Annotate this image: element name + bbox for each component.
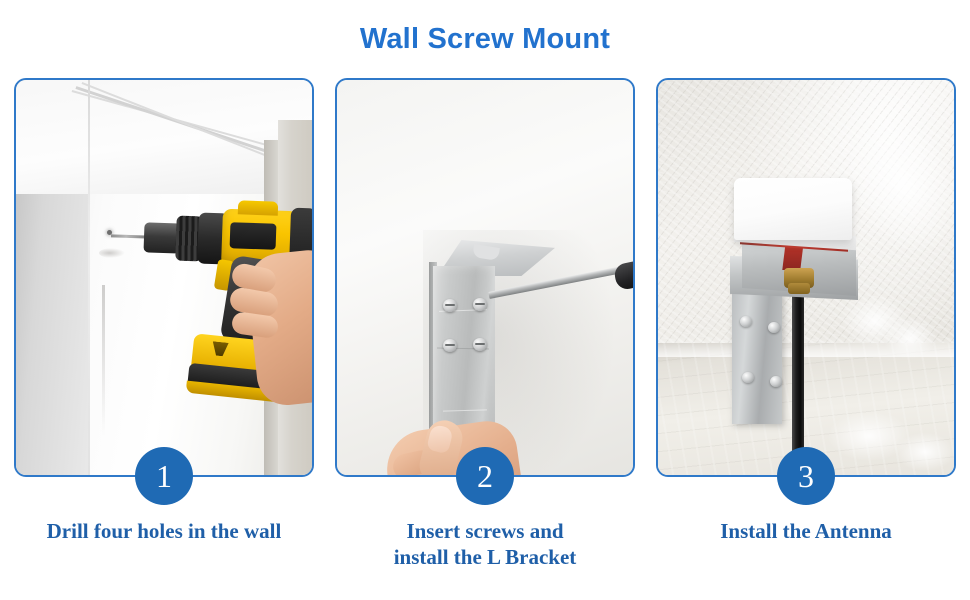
- sunlight-highlight: [882, 316, 938, 360]
- sunlight-highlight: [894, 432, 954, 472]
- installed-antenna-photo: [658, 80, 954, 475]
- l-bracket-vertical-plate: [732, 276, 782, 424]
- step-card-1: 1 Drill four holes in the wall: [14, 78, 314, 578]
- install-l-bracket-photo: [337, 80, 633, 475]
- step-card-3: 3 Install the Antenna: [656, 78, 956, 578]
- step-2-photo-frame: [335, 78, 635, 477]
- bracket-screw: [473, 338, 487, 351]
- caption-line: Drill four holes in the wall: [0, 518, 332, 544]
- drill-dust-smudge: [99, 248, 125, 258]
- drill-top-housing: [238, 200, 278, 215]
- step-number-badge-1: 1: [135, 447, 193, 505]
- caption-line: Install the Antenna: [638, 518, 970, 544]
- caption-line: install the L Bracket: [317, 544, 653, 570]
- antenna-housing: [734, 178, 852, 240]
- caption-line: Insert screws and: [317, 518, 653, 544]
- bracket-screw: [742, 372, 754, 383]
- step-caption-2: Insert screws and install the L Bracket: [317, 518, 653, 570]
- step-card-2: 2 Insert screws and install the L Bracke…: [335, 78, 635, 578]
- step-1-photo-frame: [14, 78, 314, 477]
- drill-into-wall-photo: [16, 80, 312, 475]
- bracket-screw: [770, 376, 782, 387]
- bracket-screw: [443, 339, 457, 352]
- drill-body-panel: [230, 222, 277, 250]
- bracket-screw: [443, 299, 457, 312]
- step-number-badge-3: 3: [777, 447, 835, 505]
- bracket-screw: [473, 298, 487, 311]
- antenna-brass-collar: [788, 283, 810, 294]
- step-3-photo-frame: [656, 78, 956, 477]
- page-title: Wall Screw Mount: [0, 22, 970, 56]
- step-caption-3: Install the Antenna: [638, 518, 970, 544]
- steps-container: 1 Drill four holes in the wall: [14, 78, 956, 578]
- step-number-badge-2: 2: [456, 447, 514, 505]
- bracket-screw: [740, 316, 752, 327]
- wall-corner-edge: [88, 80, 90, 475]
- bracket-screw: [768, 322, 780, 333]
- step-caption-1: Drill four holes in the wall: [0, 518, 332, 544]
- wall-scuff-mark: [102, 285, 105, 435]
